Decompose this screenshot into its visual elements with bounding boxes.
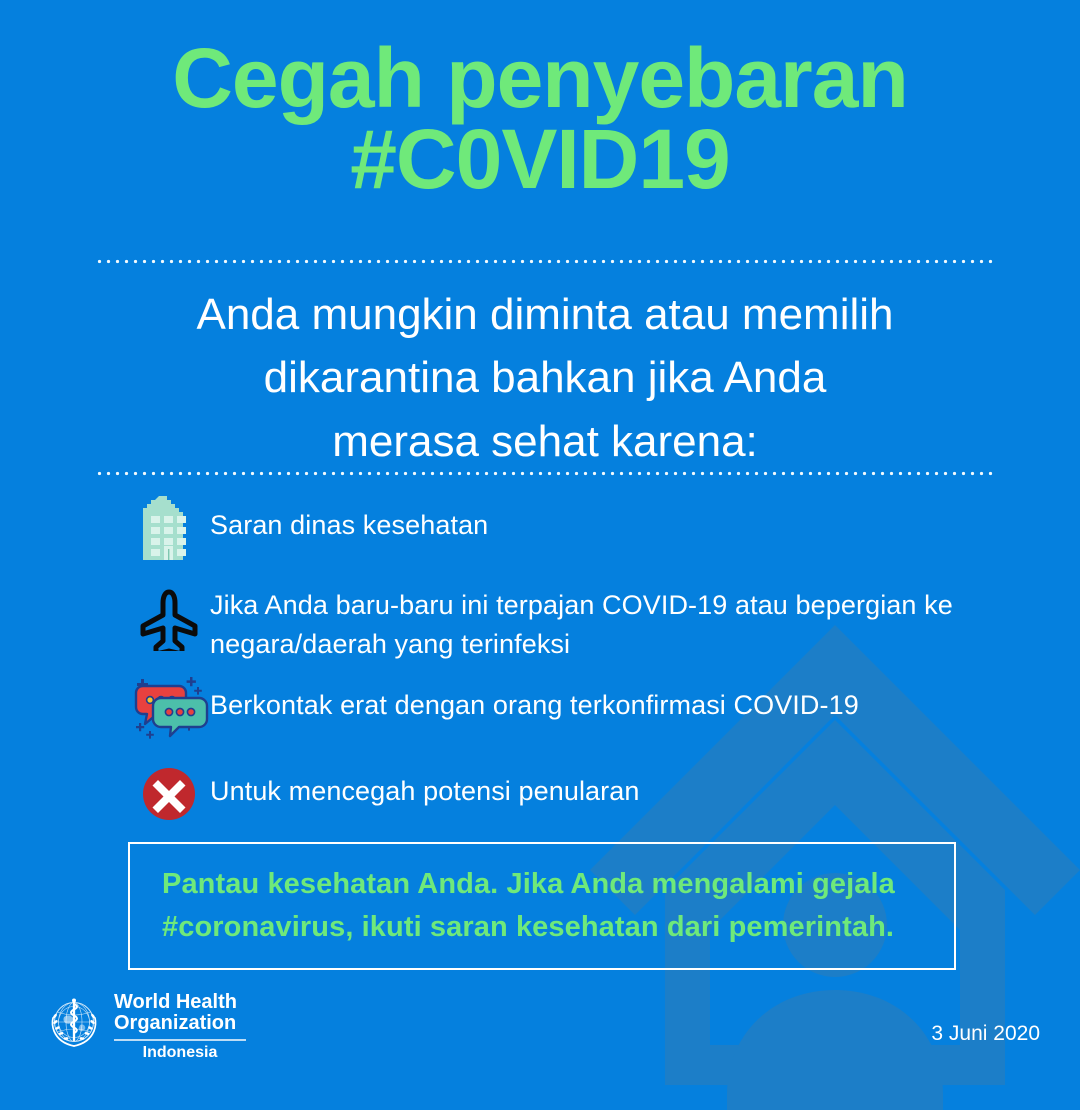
speech-bubbles-icon (132, 672, 210, 744)
subtitle-line-2: dikarantina bahkan jika Anda (95, 346, 995, 409)
publication-date: 3 Juni 2020 (931, 1022, 1040, 1046)
country-label: Indonesia (114, 1044, 246, 1062)
callout-box: Pantau kesehatan Anda. Jika Anda mengala… (128, 842, 956, 970)
red-x-circle-icon (132, 758, 206, 830)
subtitle: Anda mungkin diminta atau memilih dikara… (95, 283, 995, 473)
reason-list: Saran dinas kesehatan Jika Anda baru-bar… (132, 492, 1000, 846)
org-name-line-1: World Health (114, 992, 246, 1014)
who-emblem-icon (44, 994, 104, 1054)
subtitle-line-3: merasa sehat karena: (95, 410, 995, 473)
org-name-line-2: Organization (114, 1013, 246, 1035)
logo-divider (114, 1039, 246, 1041)
divider-top (95, 258, 995, 265)
title-line-1: Cegah penyebaran (60, 38, 1020, 119)
list-item: Saran dinas kesehatan (132, 492, 1000, 564)
callout-line-1: Pantau kesehatan Anda. Jika Anda mengala… (162, 863, 895, 907)
list-item: Untuk mencegah potensi penularan (132, 758, 1000, 830)
hospital-building-icon (132, 492, 206, 564)
list-item: Jika Anda baru-baru ini terpajan COVID-1… (132, 584, 1000, 664)
divider-bottom (95, 470, 995, 477)
list-item-label: Untuk mencegah potensi penularan (206, 758, 640, 811)
org-name: World Health Organization (114, 992, 246, 1035)
list-item-label: Jika Anda baru-baru ini terpajan COVID-1… (206, 584, 1000, 664)
callout-line-2: #coronavirus, ikuti saran kesehatan dari… (162, 906, 895, 950)
list-item-label: Saran dinas kesehatan (206, 492, 488, 545)
list-item-label: Berkontak erat dengan orang terkonfirmas… (210, 672, 859, 725)
callout-text: Pantau kesehatan Anda. Jika Anda mengala… (130, 863, 927, 950)
page-title: Cegah penyebaran #C0VID19 (60, 38, 1020, 199)
list-item: Berkontak erat dengan orang terkonfirmas… (132, 672, 1000, 744)
airplane-icon (132, 584, 206, 656)
who-logo: World Health Organization Indonesia (44, 992, 246, 1062)
who-logo-text: World Health Organization Indonesia (114, 992, 246, 1062)
subtitle-line-1: Anda mungkin diminta atau memilih (95, 283, 995, 346)
title-line-2: #C0VID19 (60, 119, 1020, 200)
